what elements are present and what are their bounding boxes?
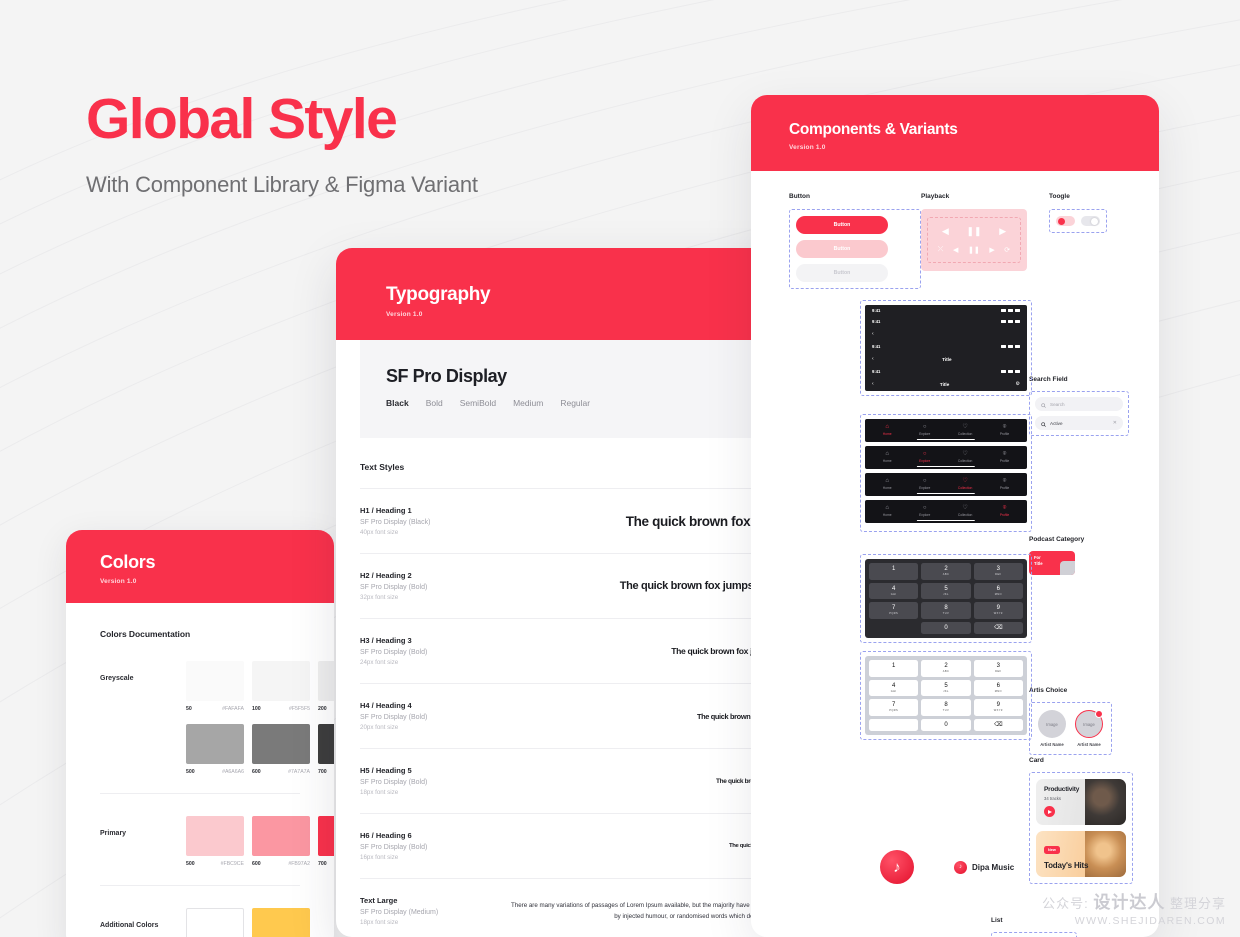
artist-avatar: Image — [1038, 710, 1066, 738]
color-swatch[interactable]: 600#FB97A2 — [252, 816, 310, 867]
keypad-digit: 6 — [974, 683, 1023, 689]
numeric-keypad-light[interactable]: 12ABC3DEF4GHI5JKL6MNO7PQRS8TUV9WXYZ0⌫ — [865, 656, 1027, 735]
watermark-suffix: 整理分享 — [1165, 896, 1226, 911]
playback-row-small[interactable]: ⤫ ◀ ❚❚ ▶ ⟳ — [933, 246, 1015, 254]
tab-profile[interactable]: ⌾Profile — [1000, 451, 1009, 463]
tab-label: Collection — [958, 513, 972, 517]
artist-option[interactable]: Image Artist Name — [1038, 710, 1066, 747]
tab-collection[interactable]: ♡Collection — [958, 451, 972, 463]
tab-collection[interactable]: ♡Collection — [958, 424, 972, 436]
keypad-digit: 0 — [921, 625, 970, 631]
playback-frame: ◀ ❚❚ ▶ ⤫ ◀ ❚❚ ▶ ⟳ — [921, 209, 1027, 271]
keypad-key-6[interactable]: 6MNO — [974, 680, 1023, 697]
shuffle-icon[interactable]: ⤫ — [938, 246, 944, 254]
swatch-hex: #7A7A7A — [288, 769, 310, 775]
text-style-meta: H1 / Heading 1SF Pro Display (Black)40px… — [360, 506, 510, 536]
keypad-digit: 2 — [921, 663, 970, 669]
swatch-hex: #FBC9CE — [221, 861, 244, 867]
font-weight-bold[interactable]: Bold — [426, 398, 443, 408]
numeric-keypad-dark[interactable]: 12ABC3DEF4GHI5JKL6MNO7PQRS8TUV9WXYZ0⌫ — [865, 559, 1027, 638]
repeat-icon[interactable]: ⟳ — [1004, 246, 1010, 254]
tab-bar[interactable]: ⌂Home○Explore♡Collection⌾Profile — [865, 500, 1027, 523]
status-icons — [1001, 320, 1020, 324]
tab-label: Collection — [958, 486, 972, 490]
keypad-digit: 2 — [921, 566, 970, 572]
keypad-digit: ⌫ — [974, 722, 1023, 728]
keypad-key-8[interactable]: 8TUV — [921, 699, 970, 716]
status-bar-frame: 9:41 9:41 ‹ 9:41 ‹Title 9:41 ‹Title⚙ — [860, 300, 1032, 396]
next-icon[interactable]: ▶ — [989, 246, 994, 254]
search-field-group: Search Field Search Active ✕ — [1029, 376, 1129, 436]
text-style-name: H3 / Heading 3 — [360, 636, 510, 645]
color-swatch[interactable]: 500#A6A6A6 — [186, 724, 244, 775]
swatch-chip — [252, 724, 310, 764]
card-group-label: Card — [1029, 757, 1133, 764]
keypad-letters: ABC — [921, 573, 970, 576]
keypad-key-0[interactable]: 0 — [921, 719, 970, 732]
swatch-hex: #FB97A2 — [288, 861, 310, 867]
home-icon: ⌂ — [883, 478, 892, 484]
color-swatch[interactable]: White#000000 — [186, 908, 244, 937]
tab-label: Explore — [919, 459, 930, 463]
tab-label: Home — [883, 486, 892, 490]
keypad-digit: 6 — [974, 586, 1023, 592]
components-card-version: Version 1.0 — [789, 144, 1121, 151]
keypad-letters: WXYZ — [974, 612, 1023, 615]
toggle-on[interactable] — [1056, 216, 1075, 226]
swatch-name: 600 — [252, 769, 261, 775]
tab-explore[interactable]: ○Explore — [919, 424, 930, 436]
keypad-letters: ABC — [921, 670, 970, 673]
keypad-digit: 5 — [921, 683, 970, 689]
status-icons — [1001, 370, 1020, 374]
swatch-name: 700 — [318, 861, 327, 867]
colors-card[interactable]: Colors Version 1.0 Colors Documentation … — [66, 530, 334, 937]
search-icon — [1041, 414, 1046, 432]
swatch-name: 700 — [318, 769, 327, 775]
swatch-name: 100 — [252, 706, 261, 712]
font-weight-medium[interactable]: Medium — [513, 398, 543, 408]
text-style-meta: H6 / Heading 6SF Pro Display (Bold)16px … — [360, 831, 510, 861]
watermark-prefix: 公众号: — [1042, 896, 1093, 911]
keypad-digit: 3 — [974, 566, 1023, 572]
tab-home[interactable]: ⌂Home — [883, 478, 892, 490]
keypad-key-3[interactable]: 3DEF — [974, 563, 1023, 580]
status-time: 9:41 — [872, 369, 880, 374]
keypad-key-4[interactable]: 4GHI — [869, 583, 918, 600]
status-bar: 9:41 — [865, 305, 1027, 316]
swatch-name: 500 — [186, 861, 195, 867]
color-swatch[interactable]: 600#7A7A7A — [252, 724, 310, 775]
nav-bar-with-settings[interactable]: ‹Title⚙ — [865, 377, 1027, 391]
tab-label: Home — [883, 432, 892, 436]
keypad-digit: 5 — [921, 586, 970, 592]
tab-label: Collection — [958, 459, 972, 463]
brand-name: Dipa Music — [972, 863, 1014, 872]
text-style-name: H2 / Heading 2 — [360, 571, 510, 580]
page-title: Global Style — [86, 90, 478, 150]
home-icon: ⌂ — [883, 505, 892, 511]
swatch-row: 500#FBC9CE600#FB97A2700#F9314B — [186, 816, 334, 867]
font-weight-semibold[interactable]: SemiBold — [460, 398, 496, 408]
toggle-frame — [1049, 209, 1107, 233]
color-group: Primary500#FBC9CE600#FB97A2700#F9314B — [100, 793, 300, 867]
swatch-chip — [252, 661, 310, 701]
person-icon: ⌾ — [1000, 505, 1009, 511]
typography-card-version: Version 1.0 — [386, 311, 814, 318]
color-swatch[interactable]: 500#FBC9CE — [186, 816, 244, 867]
tab-profile[interactable]: ⌾Profile — [1000, 424, 1009, 436]
artist-option-selected[interactable]: Image Artist Name — [1075, 710, 1103, 747]
card-group: Card Productivity 34 tracks New — [1029, 757, 1133, 884]
color-swatch[interactable]: Yellow#FFC94E — [252, 908, 310, 937]
color-group: Greyscale50#FAFAFA100#F5F5F5200#EEEEEE50… — [100, 639, 300, 775]
swatch-chip — [252, 816, 310, 856]
keypad-letters: DEF — [974, 573, 1023, 576]
font-weight-black[interactable]: Black — [386, 398, 409, 408]
button-ghost[interactable]: Button — [796, 264, 888, 282]
pause-icon[interactable]: ❚❚ — [968, 246, 980, 254]
watermark-line-1: 公众号: 设计达人 整理分享 — [1042, 888, 1226, 913]
button-group: Button Button Button Button — [789, 193, 921, 289]
colors-card-title: Colors — [100, 552, 300, 573]
tab-home[interactable]: ⌂Home — [883, 505, 892, 517]
keypad-key-1[interactable]: 1 — [869, 660, 918, 677]
nav-title: Title — [874, 382, 1016, 387]
heart-icon: ♡ — [958, 424, 972, 430]
tab-label: Home — [883, 513, 892, 517]
podcast-category-chip[interactable]: For Title — [1029, 551, 1075, 575]
next-icon[interactable]: ▶ — [999, 226, 1006, 237]
keypad-digit: 1 — [869, 663, 918, 669]
tab-label: Profile — [1000, 432, 1009, 436]
tab-explore[interactable]: ○Explore — [919, 451, 930, 463]
swatch-name: 500 — [186, 769, 195, 775]
tab-explore[interactable]: ○Explore — [919, 505, 930, 517]
media-card-title: Today's Hits — [1044, 860, 1118, 872]
keypad-key-4[interactable]: 4GHI — [869, 680, 918, 697]
keypad-digit: 9 — [974, 702, 1023, 708]
card-group-frame: Productivity 34 tracks New Today's Hits — [1029, 772, 1133, 884]
keypad-digit: 7 — [869, 605, 918, 611]
colors-card-version: Version 1.0 — [100, 578, 300, 585]
text-style-name: Text Large — [360, 896, 510, 905]
swatch-chip — [318, 724, 334, 764]
nav-bar-with-title[interactable]: ‹Title — [865, 352, 1027, 366]
page-subtitle: With Component Library & Figma Variant — [86, 172, 478, 198]
battery-icon — [1015, 309, 1020, 313]
hero-block: Global Style With Component Library & Fi… — [86, 90, 478, 198]
media-card-title: Productivity — [1044, 786, 1118, 793]
swatch-hex: #A6A6A6 — [222, 769, 244, 775]
keypad-key-7[interactable]: 7PQRS — [869, 602, 918, 619]
keypad-letters: GHI — [869, 690, 918, 693]
keypad-letters: MNO — [974, 690, 1023, 693]
person-icon: ⌾ — [1000, 478, 1009, 484]
swatch-name: 50 — [186, 706, 192, 712]
keypad-key-8[interactable]: 8TUV — [921, 602, 970, 619]
keypad-key-blank — [869, 622, 918, 635]
keypad-digit: ⌫ — [974, 625, 1023, 631]
artist-name: Artist Name — [1038, 742, 1066, 747]
list-frame: 1ImageTitleSubtitle⋮ImageTitleSubtitle⋮I… — [991, 932, 1077, 937]
components-row-primary: Button Button Button Button Playback ◀ ❚… — [789, 193, 1121, 289]
color-group-label: Primary — [100, 816, 186, 837]
wifi-icon — [1008, 345, 1013, 349]
tab-home[interactable]: ⌂Home — [883, 424, 892, 436]
tab-bar[interactable]: ⌂Home○Explore♡Collection⌾Profile — [865, 419, 1027, 442]
search-field-frame: Search Active ✕ — [1029, 391, 1129, 436]
button-group-label: Button — [789, 193, 921, 200]
gear-icon[interactable]: ⚙ — [1016, 381, 1020, 387]
status-icons — [1001, 345, 1020, 349]
toggle-group: Toogle — [1049, 193, 1107, 289]
swatch-chip — [318, 816, 334, 856]
text-style-meta: H3 / Heading 3SF Pro Display (Bold)24px … — [360, 636, 510, 666]
keypad-letters: JKL — [921, 690, 970, 693]
battery-icon — [1015, 345, 1020, 349]
keypad-key-backspace[interactable]: ⌫ — [974, 719, 1023, 732]
keypad-letters: PQRS — [869, 709, 918, 712]
text-style-size: 20px font size — [360, 724, 510, 731]
heart-icon: ♡ — [958, 505, 972, 511]
status-bar: 9:41 — [865, 316, 1027, 327]
swatch-hex: #FAFAFA — [222, 706, 244, 712]
keypad-key-1[interactable]: 1 — [869, 563, 918, 580]
media-card-subtitle: 34 tracks — [1044, 796, 1118, 801]
color-group: Additional ColorsWhite#000000Yellow#FFC9… — [100, 885, 300, 937]
heart-icon: ♡ — [958, 451, 972, 457]
media-card-todays-hits[interactable]: New Today's Hits — [1036, 831, 1126, 877]
artis-choice-frame: Image Artist Name Image Artist Name — [1029, 702, 1112, 755]
wifi-icon — [1008, 309, 1013, 313]
status-bar: 9:41 — [865, 341, 1027, 352]
search-field-label: Search Field — [1029, 376, 1129, 383]
search-icon: ○ — [919, 424, 930, 430]
text-style-meta: H2 / Heading 2SF Pro Display (Bold)32px … — [360, 571, 510, 601]
keypad-letters: TUV — [921, 709, 970, 712]
artist-name: Artist Name — [1075, 742, 1103, 747]
keypad-key-9[interactable]: 9WXYZ — [974, 602, 1023, 619]
keypad-letters: WXYZ — [974, 709, 1023, 712]
color-swatch[interactable]: 700#3D3D3D — [318, 724, 334, 775]
color-groups: Greyscale50#FAFAFA100#F5F5F5200#EEEEEE50… — [100, 639, 300, 937]
brand-lockup: ♪ Dipa Music — [954, 861, 1014, 874]
swatch-row: 50#FAFAFA100#F5F5F5200#EEEEEE — [186, 661, 334, 712]
music-note-icon: ♪ — [954, 861, 967, 874]
text-style-meta: H5 / Heading 5SF Pro Display (Bold)18px … — [360, 766, 510, 796]
signal-icon — [1001, 309, 1006, 313]
tab-label: Profile — [1000, 486, 1009, 490]
pause-icon[interactable]: ❚❚ — [966, 226, 981, 237]
text-style-size: 16px font size — [360, 854, 510, 861]
keypad-digit: 3 — [974, 663, 1023, 669]
search-icon: ○ — [919, 451, 930, 457]
artist-avatar: Image — [1075, 710, 1103, 738]
signal-icon — [1001, 345, 1006, 349]
keypad-digit: 8 — [921, 702, 970, 708]
status-bar: 9:41 — [865, 366, 1027, 377]
color-swatch[interactable]: 50#FAFAFA — [186, 661, 244, 712]
font-weight-list: BlackBoldSemiBoldMediumRegular — [386, 398, 767, 408]
toggle-group-label: Toogle — [1049, 193, 1107, 200]
brand-block: ♪ ♪ Dipa Music — [880, 850, 1014, 884]
keypad-digit: 8 — [921, 605, 970, 611]
keypad-key-5[interactable]: 5JKL — [921, 583, 970, 600]
text-style-meta: H4 / Heading 4SF Pro Display (Bold)20px … — [360, 701, 510, 731]
signal-icon — [1001, 370, 1006, 374]
swatch-chip — [252, 908, 310, 937]
color-swatch[interactable]: 200#EEEEEE — [318, 661, 334, 712]
keypad-letters: DEF — [974, 670, 1023, 673]
button-variants-frame: Button Button Button — [789, 209, 921, 289]
text-style-family: SF Pro Display (Bold) — [360, 844, 510, 851]
watermark-brand: 设计达人 — [1093, 893, 1165, 912]
nav-bar-back-only[interactable]: ‹ — [865, 327, 1027, 341]
keypad-key-5[interactable]: 5JKL — [921, 680, 970, 697]
keypad-digit: 9 — [974, 605, 1023, 611]
search-icon: ○ — [919, 505, 930, 511]
components-card-header: Components & Variants Version 1.0 — [751, 95, 1159, 171]
text-style-family: SF Pro Display (Medium) — [360, 909, 510, 916]
design-system-poster: Global Style With Component Library & Fi… — [0, 0, 1240, 937]
playback-group-label: Playback — [921, 193, 1049, 200]
toggle-knob — [1091, 218, 1098, 225]
clear-icon[interactable]: ✕ — [1113, 420, 1117, 426]
keypad-digit: 1 — [869, 566, 918, 572]
tab-label: Profile — [1000, 459, 1009, 463]
color-group-label: Greyscale — [100, 661, 186, 682]
keypad-letters: JKL — [921, 593, 970, 596]
font-weight-regular[interactable]: Regular — [560, 398, 590, 408]
button-primary[interactable]: Button — [796, 216, 888, 234]
keypad-digit: 0 — [921, 722, 970, 728]
tab-collection[interactable]: ♡Collection — [958, 505, 972, 517]
keypad-frame-light: 12ABC3DEF4GHI5JKL6MNO7PQRS8TUV9WXYZ0⌫ — [860, 651, 1032, 740]
color-swatch[interactable]: 100#F5F5F5 — [252, 661, 310, 712]
podcast-category-group: Podcast Category For Title — [1029, 536, 1084, 575]
text-style-family: SF Pro Display (Bold) — [360, 714, 510, 721]
wifi-icon — [1008, 320, 1013, 324]
typography-card-title: Typography — [386, 284, 814, 306]
tab-label: Collection — [958, 432, 972, 436]
back-icon[interactable]: ‹ — [872, 331, 874, 337]
tab-label: Explore — [919, 432, 930, 436]
tab-bar[interactable]: ⌂Home○Explore♡Collection⌾Profile — [865, 446, 1027, 469]
keypad-key-2[interactable]: 2ABC — [921, 563, 970, 580]
keypad-digit: 4 — [869, 586, 918, 592]
media-card-productivity[interactable]: Productivity 34 tracks — [1036, 779, 1126, 825]
text-style-size: 32px font size — [360, 594, 510, 601]
tab-profile[interactable]: ⌾Profile — [1000, 505, 1009, 517]
colors-card-body: Colors Documentation Greyscale50#FAFAFA1… — [66, 603, 334, 937]
colors-section-title: Colors Documentation — [100, 629, 300, 639]
tab-collection[interactable]: ♡Collection — [958, 478, 972, 490]
keypad-key-3[interactable]: 3DEF — [974, 660, 1023, 677]
status-icons — [1001, 309, 1020, 313]
person-icon: ⌾ — [1000, 451, 1009, 457]
keypad-key-blank — [869, 719, 918, 732]
search-input-active[interactable]: Active ✕ — [1035, 416, 1123, 430]
tab-profile[interactable]: ⌾Profile — [1000, 478, 1009, 490]
keypad-key-7[interactable]: 7PQRS — [869, 699, 918, 716]
watermark-url: WWW.SHEJIDAREN.COM — [1042, 915, 1226, 927]
person-icon: ⌾ — [1000, 424, 1009, 430]
signal-icon — [1001, 320, 1006, 324]
keypad-letters: GHI — [869, 593, 918, 596]
search-input-default[interactable]: Search — [1035, 397, 1123, 411]
keypad-letters: TUV — [921, 612, 970, 615]
tab-bar-frame: ⌂Home○Explore♡Collection⌾Profile⌂Home○Ex… — [860, 414, 1032, 532]
playback-group: Playback ◀ ❚❚ ▶ ⤫ ◀ ❚❚ — [921, 193, 1049, 289]
tab-bar[interactable]: ⌂Home○Explore♡Collection⌾Profile — [865, 473, 1027, 496]
heart-icon: ♡ — [958, 478, 972, 484]
text-style-size: 24px font size — [360, 659, 510, 666]
text-style-size: 18px font size — [360, 789, 510, 796]
wifi-icon — [1008, 370, 1013, 374]
text-style-name: H6 / Heading 6 — [360, 831, 510, 840]
keypad-key-9[interactable]: 9WXYZ — [974, 699, 1023, 716]
tab-explore[interactable]: ○Explore — [919, 478, 930, 490]
text-style-meta: Text LargeSF Pro Display (Medium)18px fo… — [360, 896, 510, 926]
toggle-knob — [1058, 218, 1065, 225]
keypad-digit: 4 — [869, 683, 918, 689]
podcast-thumb-placeholder — [1060, 561, 1075, 575]
home-icon: ⌂ — [883, 451, 892, 457]
tab-label: Explore — [919, 486, 930, 490]
toggle-off[interactable] — [1081, 216, 1100, 226]
music-note-icon: ♪ — [880, 850, 914, 884]
keypad-frame-dark: 12ABC3DEF4GHI5JKL6MNO7PQRS8TUV9WXYZ0⌫ — [860, 554, 1032, 643]
button-soft[interactable]: Button — [796, 240, 888, 258]
phone-mock-strip: 9:41 9:41 ‹ 9:41 ‹Title 9:41 ‹Title⚙ — [860, 300, 1032, 740]
text-style-name: H4 / Heading 4 — [360, 701, 510, 710]
keypad-key-backspace[interactable]: ⌫ — [974, 622, 1023, 635]
text-style-family: SF Pro Display (Bold) — [360, 779, 510, 786]
text-style-family: SF Pro Display (Black) — [360, 519, 510, 526]
swatch-name: 600 — [252, 861, 261, 867]
status-time: 9:41 — [872, 319, 880, 324]
status-time: 9:41 — [872, 308, 880, 313]
previous-icon[interactable]: ◀ — [953, 246, 958, 254]
swatch-name: 200 — [318, 706, 327, 712]
keypad-key-6[interactable]: 6MNO — [974, 583, 1023, 600]
play-icon[interactable] — [1044, 806, 1055, 817]
keypad-key-0[interactable]: 0 — [921, 622, 970, 635]
search-icon: ○ — [919, 478, 930, 484]
text-style-family: SF Pro Display (Bold) — [360, 584, 510, 591]
previous-icon[interactable]: ◀ — [942, 226, 949, 237]
keypad-letters: PQRS — [869, 612, 918, 615]
tab-label: Profile — [1000, 513, 1009, 517]
text-style-name: H1 / Heading 1 — [360, 506, 510, 515]
swatch-row: 500#A6A6A6600#7A7A7A700#3D3D3D — [186, 724, 334, 775]
swatch-chip — [186, 661, 244, 701]
podcast-category-label: Podcast Category — [1029, 536, 1084, 543]
battery-icon — [1015, 320, 1020, 324]
tab-home[interactable]: ⌂Home — [883, 451, 892, 463]
color-swatch[interactable]: 700#F9314B — [318, 816, 334, 867]
status-and-nav-stack: 9:41 9:41 ‹ 9:41 ‹Title 9:41 ‹Title⚙ — [865, 305, 1027, 391]
keypad-digit: 7 — [869, 702, 918, 708]
playback-row-large[interactable]: ◀ ❚❚ ▶ — [933, 226, 1015, 237]
text-style-family: SF Pro Display (Bold) — [360, 649, 510, 656]
tab-label: Home — [883, 459, 892, 463]
colors-card-header: Colors Version 1.0 — [66, 530, 334, 603]
keypad-key-2[interactable]: 2ABC — [921, 660, 970, 677]
components-card-title: Components & Variants — [789, 121, 1121, 139]
keypad-letters: MNO — [974, 593, 1023, 596]
